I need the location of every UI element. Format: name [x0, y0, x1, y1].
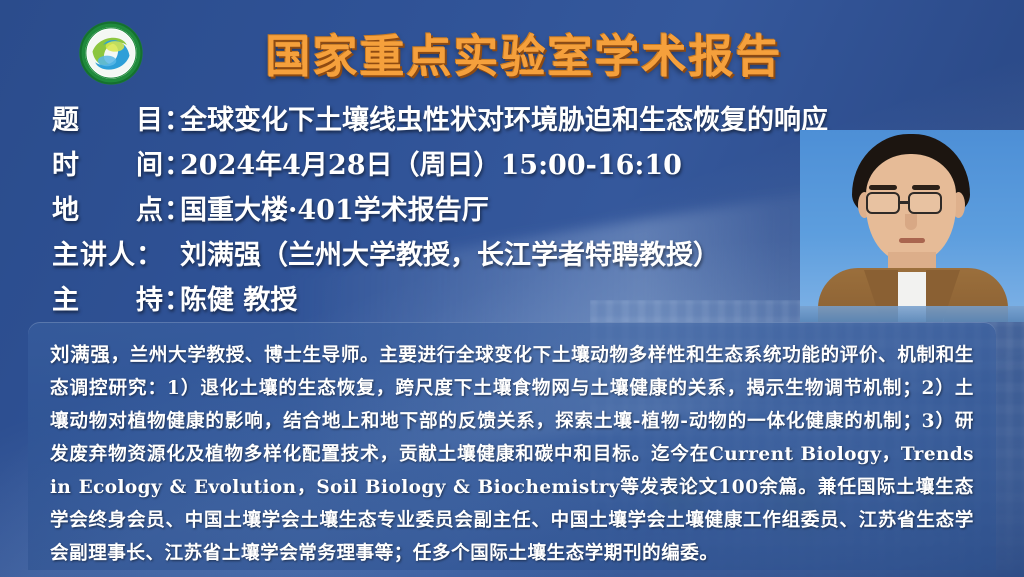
info-row-speaker: 主讲人： 刘满强（兰州大学教授，长江学者特聘教授）: [52, 233, 842, 278]
page-title: 国家重点实验室学术报告: [0, 20, 1024, 85]
seminar-info-block: 题 目： 全球变化下土壤线虫性状对环境胁迫和生态恢复的响应 时 间： 2024年…: [52, 98, 842, 323]
info-value-location: 国重大楼·401学术报告厅: [180, 188, 489, 227]
info-value-host: 陈健 教授: [180, 278, 297, 317]
portrait-nose: [905, 214, 917, 230]
info-label-location: 地 点：: [52, 188, 180, 227]
info-value-topic: 全球变化下土壤线虫性状对环境胁迫和生态恢复的响应: [180, 98, 828, 137]
info-value-time: 2024年4月28日（周日）15:00-16:10: [180, 143, 682, 182]
portrait-mouth: [899, 238, 925, 243]
info-row-location: 地 点： 国重大楼·401学术报告厅: [52, 188, 842, 233]
info-row-host: 主 持： 陈健 教授: [52, 278, 842, 323]
portrait-glasses-right-lens: [908, 192, 942, 214]
seminar-poster: 国家重点实验室学术报告 题 目： 全球变化下土壤线虫性状对环境胁迫和生态恢复的响…: [0, 0, 1024, 577]
speaker-portrait-photo: [800, 130, 1024, 322]
info-row-topic: 题 目： 全球变化下土壤线虫性状对环境胁迫和生态恢复的响应: [52, 98, 842, 143]
info-label-topic: 题 目：: [52, 98, 180, 137]
info-row-time: 时 间： 2024年4月28日（周日）15:00-16:10: [52, 143, 842, 188]
portrait-desk: [800, 306, 1024, 322]
portrait-glasses-bridge: [900, 201, 908, 204]
info-label-host: 主 持：: [52, 278, 180, 317]
info-label-time: 时 间：: [52, 143, 180, 182]
portrait-glasses-left-lens: [866, 192, 900, 214]
info-value-speaker: 刘满强（兰州大学教授，长江学者特聘教授）: [180, 233, 720, 272]
info-label-speaker: 主讲人：: [52, 233, 180, 272]
speaker-bio-name: 刘满强: [50, 343, 111, 366]
speaker-bio-text: 刘满强，兰州大学教授、博士生导师。主要进行全球变化下土壤动物多样性和生态系统功能…: [50, 338, 974, 570]
portrait-eyebrow-right: [912, 185, 940, 190]
portrait-eyebrow-left: [869, 185, 897, 190]
poster-header: 国家重点实验室学术报告: [0, 0, 1024, 92]
speaker-bio-panel: 刘满强，兰州大学教授、博士生导师。主要进行全球变化下土壤动物多样性和生态系统功能…: [28, 322, 996, 570]
